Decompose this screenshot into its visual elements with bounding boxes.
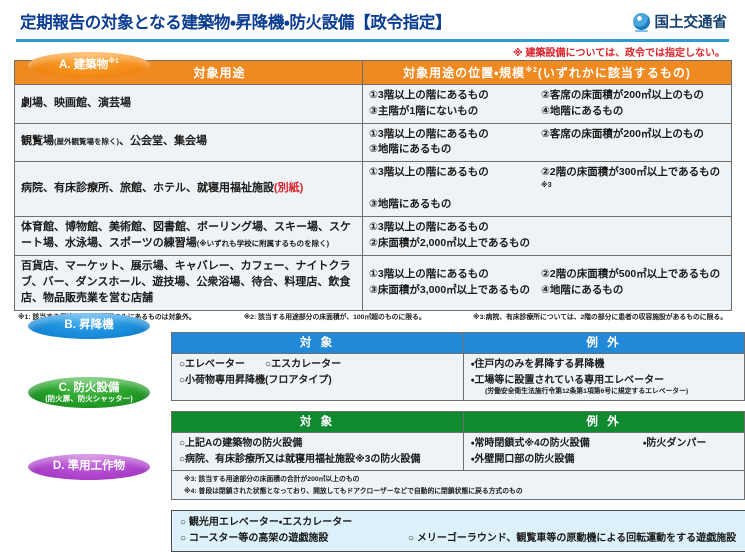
table-row: ○上記Aの建築物の防火設備 ○病院、有床診療所又は就寝用福祉施設※3の防火設備 … bbox=[172, 433, 745, 471]
document-page: 定期報告の対象となる建築物・昇降機・防火設備【政令指定】 国土交通省 ※ 建築設… bbox=[0, 0, 745, 508]
scale-cell: ①3階以上の階にあるもの②客席の床面積が200㎡以上のもの ③主階が1階にないも… bbox=[363, 85, 732, 124]
use-cell: 病院、有床診療所、旅館、ホテル、就寝用福祉施設(別紙) bbox=[15, 162, 363, 217]
col-header-target: 対 象 bbox=[172, 333, 464, 354]
table-row: 百貨店、マーケット、展示場、キャバレー、カフェー、ナイトクラブ、バー、ダンスホー… bbox=[15, 255, 732, 310]
col-header-exception: 例 外 bbox=[464, 412, 745, 433]
list-item: ○ 観光用エレベーター・エスカレーター bbox=[180, 515, 738, 531]
list-item: ○ コースター等の高架の遊戯施設 ○ メリーゴーラウンド、観覧車等の原動機による… bbox=[180, 531, 738, 547]
building-table: 対象用途 対象用途の位置・規模※2(いずれかに該当するもの) 劇場、映画館、演芸… bbox=[14, 60, 732, 311]
use-cell: 百貨店、マーケット、展示場、キャバレー、カフェー、ナイトクラブ、バー、ダンスホー… bbox=[15, 255, 363, 310]
footnote-3: ※3: 該当する用途部分の床面積の合計が200㎡以上のもの bbox=[178, 473, 738, 485]
section-c-footnotes: ※3: 該当する用途部分の床面積の合計が200㎡以上のもの ※4: 普段は閉鎖さ… bbox=[172, 471, 745, 500]
table-header-row: 対 象 例 外 bbox=[172, 333, 745, 354]
badge-section-a: A. 建築物※1 bbox=[28, 52, 150, 78]
col-header-exception: 例 外 bbox=[464, 333, 745, 354]
use-cell: 観覧場(屋外観覧場を除く)、公会堂、集会場 bbox=[15, 123, 363, 162]
target-cell: ○上記Aの建築物の防火設備 ○病院、有床診療所又は就寝用福祉施設※3の防火設備 bbox=[172, 433, 464, 471]
use-cell: 体育館、博物館、美術館、図書館、ボーリング場、スキー場、スケート場、水泳場、スポ… bbox=[15, 216, 363, 255]
footnote-2: ※2: 該当する用途部分の床面積が、100㎡超のものに限る。 bbox=[244, 314, 473, 323]
footnote-3: ※3:病院、有床診療所については、2階の部分に患者の収容施設があるものに限る。 bbox=[473, 314, 727, 323]
table-row: 病院、有床診療所、旅館、ホテル、就寝用福祉施設(別紙) ①3階以上の階にあるもの… bbox=[15, 162, 732, 217]
ministry-branding: 国土交通省 bbox=[633, 11, 728, 32]
table-row: ○エレベーター ○エスカレーター ○小荷物専用昇降機(フロアタイプ) ・住戸内の… bbox=[172, 354, 745, 401]
table-row: 体育館、博物館、美術館、図書館、ボーリング場、スキー場、スケート場、水泳場、スポ… bbox=[15, 216, 732, 255]
badge-section-d: D. 準用工作物 bbox=[28, 454, 150, 480]
structures-table: ○ 観光用エレベーター・エスカレーター ○ コースター等の高架の遊戯施設 ○ メ… bbox=[171, 510, 745, 552]
footnote-4: ※4: 普段は閉鎖された状態となっており、開放してもドアクローザーなどで自動的に… bbox=[178, 485, 738, 497]
exception-cell: ・住戸内のみを昇降する昇降機 ・工場等に設置されている専用エレベーター (労働安… bbox=[464, 354, 745, 401]
scale-cell: ①3階以上の階にあるもの②2階の床面積が300㎡以上であるもの※3 ③地階にある… bbox=[363, 162, 732, 217]
use-cell: 劇場、映画館、演芸場 bbox=[15, 85, 363, 124]
elevator-table: 対 象 例 外 ○エレベーター ○エスカレーター ○小荷物専用昇降機(フロアタイ… bbox=[171, 332, 745, 401]
ministry-name: 国土交通省 bbox=[655, 11, 728, 32]
table-row: ※3: 該当する用途部分の床面積の合計が200㎡以上のもの ※4: 普段は閉鎖さ… bbox=[172, 471, 745, 500]
col-header-target: 対 象 bbox=[172, 412, 464, 433]
exception-subnote: (労働安全衛生法施行令第12条第1項第6号に規定するエレベーター) bbox=[471, 388, 737, 397]
target-cell: ○エレベーター ○エスカレーター ○小荷物専用昇降機(フロアタイプ) bbox=[172, 354, 464, 401]
scale-cell: ①3階以上の階にあるもの②2階の床面積が500㎡以上であるもの ③床面積が3,0… bbox=[363, 255, 732, 310]
section-d: ○ 観光用エレベーター・エスカレーター ○ コースター等の高架の遊戯施設 ○ メ… bbox=[14, 510, 731, 552]
section-a: 対象用途 対象用途の位置・規模※2(いずれかに該当するもの) 劇場、映画館、演芸… bbox=[14, 60, 731, 322]
scale-cell: ①3階以上の階にあるもの②客席の床面積が200㎡以上のもの ③地階にあるもの bbox=[363, 123, 732, 162]
table-row: 観覧場(屋外観覧場を除く)、公会堂、集会場 ①3階以上の階にあるもの②客席の床面… bbox=[15, 123, 732, 162]
document-header: 定期報告の対象となる建築物・昇降機・防火設備【政令指定】 国土交通省 bbox=[14, 0, 731, 38]
structures-list: ○ 観光用エレベーター・エスカレーター ○ コースター等の高架の遊戯施設 ○ メ… bbox=[172, 511, 745, 551]
table-row: 劇場、映画館、演芸場 ①3階以上の階にあるもの②客席の床面積が200㎡以上のもの… bbox=[15, 85, 732, 124]
badge-section-c: C. 防火設備 (防火扉、防火シャッター) bbox=[28, 377, 150, 408]
mlit-logo-icon bbox=[633, 13, 650, 30]
page-title: 定期報告の対象となる建築物・昇降機・防火設備【政令指定】 bbox=[20, 9, 451, 33]
badge-section-b: B. 昇降機 bbox=[28, 313, 150, 339]
exception-cell: ・常時閉鎖式※4の防火設備・防火ダンパー ・外壁開口部の防火設備 bbox=[464, 433, 745, 471]
col-header-scale: 対象用途の位置・規模※2(いずれかに該当するもの) bbox=[363, 61, 732, 85]
table-header-row: 対 象 例 外 bbox=[172, 412, 745, 433]
scale-cell: ①3階以上の階にあるもの ②床面積が2,000㎡以上であるもの bbox=[363, 216, 732, 255]
fire-equipment-table: 対 象 例 外 ○上記Aの建築物の防火設備 ○病院、有床診療所又は就寝用福祉施設… bbox=[171, 411, 745, 500]
besshi-link: (別紙) bbox=[274, 182, 303, 194]
